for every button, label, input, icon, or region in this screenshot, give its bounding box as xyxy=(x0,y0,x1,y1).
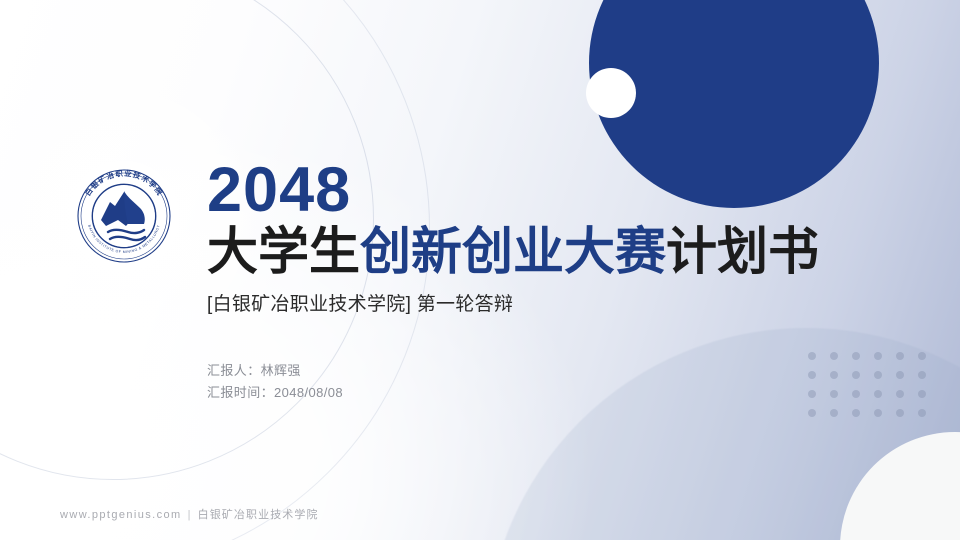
headline-part-3: 计划书 xyxy=(666,223,819,280)
decorative-white-dot-circle xyxy=(586,68,636,118)
presenter-name: 汇报人：林辉强 xyxy=(207,360,907,382)
headline-part-2: 创新创业大赛 xyxy=(360,223,666,280)
title-block: 2048 大学生创新创业大赛计划书 [白银矿冶职业技术学院] 第一轮答辩 汇报人… xyxy=(207,158,907,404)
grid-dot xyxy=(830,409,838,417)
slide-canvas: 白银矿冶职业技术学院 BAIYIN INSTITUTE OF MINING & … xyxy=(0,0,960,540)
presentation-date: 汇报时间：2048/08/08 xyxy=(207,382,907,404)
grid-dot xyxy=(918,371,926,379)
grid-dot xyxy=(808,409,816,417)
grid-dot xyxy=(852,409,860,417)
grid-dot xyxy=(918,390,926,398)
grid-dot xyxy=(896,409,904,417)
grid-dot xyxy=(874,409,882,417)
footer-site: www.pptgenius.com xyxy=(60,509,182,521)
presenter-meta: 汇报人：林辉强 汇报时间：2048/08/08 xyxy=(207,360,907,404)
subtitle: [白银矿冶职业技术学院] 第一轮答辩 xyxy=(207,292,907,318)
footer: www.pptgenius.com|白银矿冶职业技术学院 xyxy=(60,506,319,522)
grid-dot xyxy=(918,352,926,360)
headline-part-1: 大学生 xyxy=(207,223,360,280)
main-headline: 大学生创新创业大赛计划书 xyxy=(207,224,907,280)
university-logo: 白银矿冶职业技术学院 BAIYIN INSTITUTE OF MINING & … xyxy=(68,160,180,272)
footer-org: 白银矿冶职业技术学院 xyxy=(198,509,319,521)
footer-separator: | xyxy=(188,509,192,521)
grid-dot xyxy=(918,409,926,417)
year-title: 2048 xyxy=(207,158,907,222)
